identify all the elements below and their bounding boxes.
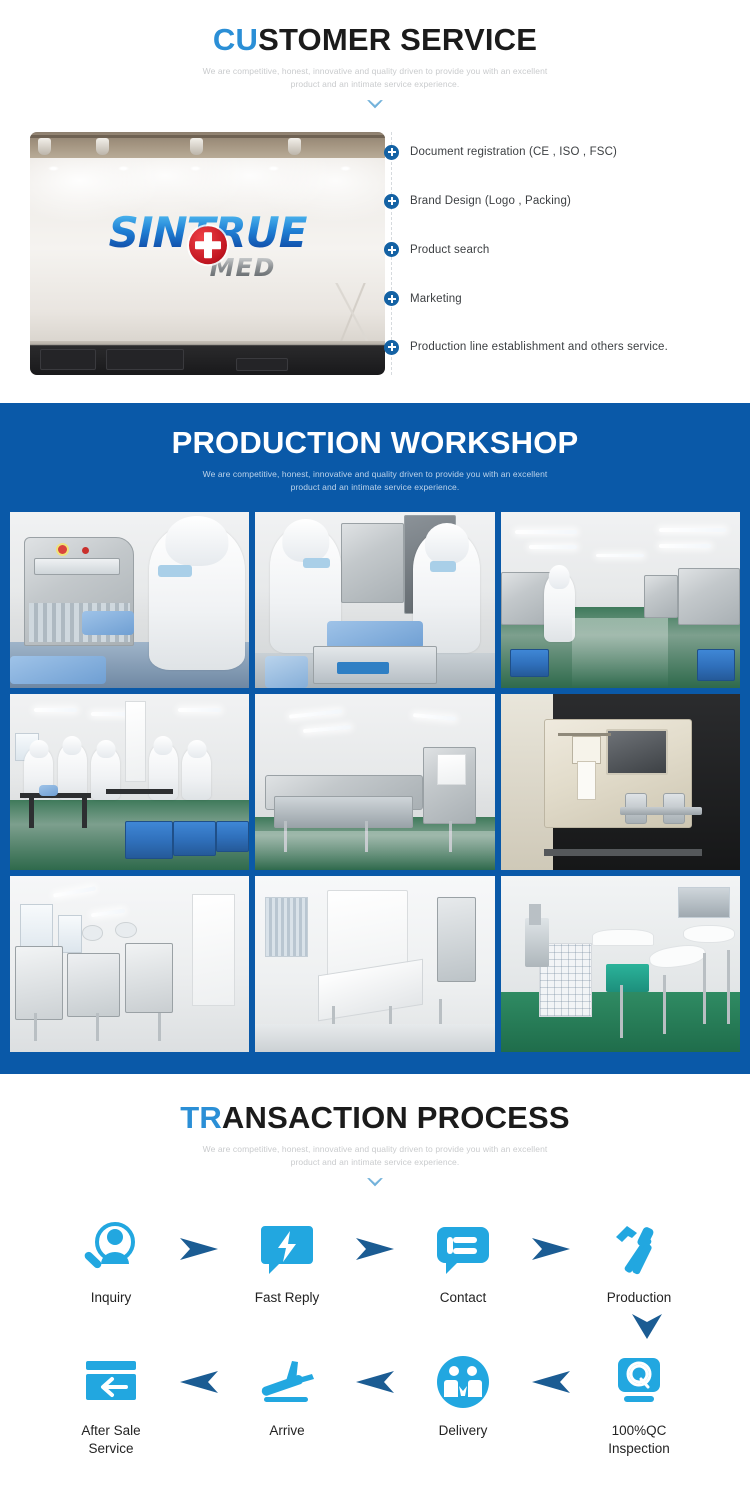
logo-cross-icon bbox=[189, 226, 227, 264]
magnifier-person-icon bbox=[52, 1218, 170, 1280]
workshop-photo-2[interactable] bbox=[255, 512, 494, 688]
chevron-down-icon bbox=[366, 1177, 384, 1188]
list-item[interactable]: Document registration (CE , ISO , FSC) bbox=[416, 145, 720, 160]
list-item[interactable]: Marketing bbox=[416, 291, 720, 306]
service-label: Marketing bbox=[410, 293, 462, 305]
process-row-1: Inquiry Fast Reply bbox=[0, 1218, 750, 1307]
process-label: 100%QC Inspection bbox=[580, 1422, 698, 1458]
arrow-right-icon bbox=[346, 1218, 404, 1280]
ceiling-light bbox=[190, 166, 201, 171]
list-item[interactable]: Brand Design (Logo , Packing) bbox=[416, 194, 720, 209]
workshop-photo-6[interactable] bbox=[501, 694, 740, 870]
desk-panel bbox=[40, 349, 96, 370]
arrow-right-icon bbox=[170, 1218, 228, 1280]
customer-service-body: SINTRUE MED Document registration (CE , … bbox=[0, 132, 750, 375]
section-title: TRANSACTION PROCESS bbox=[0, 1100, 750, 1136]
process-row-2: After Sale Service bbox=[0, 1351, 750, 1458]
section-title-accent: TR bbox=[180, 1100, 222, 1135]
process-step-after-sale-service[interactable]: After Sale Service bbox=[52, 1351, 170, 1458]
speech-bubble-lightning-icon bbox=[228, 1218, 346, 1280]
card-back-arrow-icon bbox=[52, 1351, 170, 1413]
production-workshop-subtitle: We are competitive, honest, innovative a… bbox=[200, 468, 550, 494]
service-list: Document registration (CE , ISO , FSC) B… bbox=[391, 132, 720, 375]
ceiling-light bbox=[118, 166, 129, 171]
chat-bubble-icon bbox=[404, 1218, 522, 1280]
plant-decor bbox=[329, 283, 379, 343]
handshake-people-icon bbox=[404, 1351, 522, 1413]
workshop-photo-9[interactable] bbox=[501, 876, 740, 1052]
transaction-process-subtitle: We are competitive, honest, innovative a… bbox=[200, 1143, 550, 1169]
spotlight-icon bbox=[288, 138, 301, 155]
list-item[interactable]: Production line establishment and others… bbox=[416, 340, 720, 355]
process-step-arrive[interactable]: Arrive bbox=[228, 1351, 346, 1440]
production-workshop-header: PRODUCTION WORKSHOP We are competitive, … bbox=[0, 425, 750, 494]
workshop-photo-3[interactable] bbox=[501, 512, 740, 688]
ceiling-track bbox=[30, 135, 385, 138]
process-label: Arrive bbox=[228, 1422, 346, 1440]
logo-subtext: MED bbox=[148, 255, 338, 280]
monitor-qc-icon bbox=[580, 1351, 698, 1413]
airplane-landing-icon bbox=[228, 1351, 346, 1413]
process-label: Production bbox=[580, 1289, 698, 1307]
ceiling-light bbox=[340, 166, 351, 171]
spotlight-icon bbox=[190, 138, 203, 155]
process-step-production[interactable]: Production bbox=[580, 1218, 698, 1307]
arrow-left-icon bbox=[346, 1351, 404, 1413]
plus-circle-icon bbox=[384, 291, 399, 306]
production-workshop-section: PRODUCTION WORKSHOP We are competitive, … bbox=[0, 403, 750, 1074]
hammer-screwdriver-icon bbox=[580, 1218, 698, 1280]
section-title: PRODUCTION WORKSHOP bbox=[0, 425, 750, 461]
process-label: Contact bbox=[404, 1289, 522, 1307]
reception-wall-photo: SINTRUE MED bbox=[30, 132, 385, 375]
list-item[interactable]: Product search bbox=[416, 242, 720, 257]
workshop-photo-7[interactable] bbox=[10, 876, 249, 1052]
spotlight-icon bbox=[38, 138, 51, 155]
page-title-rest: STOMER SERVICE bbox=[258, 22, 537, 57]
transaction-process-header: TRANSACTION PROCESS We are competitive, … bbox=[0, 1100, 750, 1188]
ceiling-light bbox=[268, 166, 279, 171]
workshop-photo-grid bbox=[0, 512, 750, 1052]
arrow-right-icon bbox=[522, 1218, 580, 1280]
page-title: CUSTOMER SERVICE bbox=[0, 22, 750, 58]
process-step-inquiry[interactable]: Inquiry bbox=[52, 1218, 170, 1307]
process-label: Fast Reply bbox=[228, 1289, 346, 1307]
customer-service-section: CUSTOMER SERVICE We are competitive, hon… bbox=[0, 0, 750, 403]
plus-circle-icon bbox=[384, 194, 399, 209]
page-title-accent: CU bbox=[213, 22, 258, 57]
process-step-contact[interactable]: Contact bbox=[404, 1218, 522, 1307]
process-label: After Sale Service bbox=[52, 1422, 170, 1458]
plus-circle-icon bbox=[384, 340, 399, 355]
arrow-left-icon bbox=[522, 1351, 580, 1413]
arrow-down-icon bbox=[0, 1311, 750, 1341]
process-flow: Inquiry Fast Reply bbox=[0, 1218, 750, 1459]
customer-service-header: CUSTOMER SERVICE We are competitive, hon… bbox=[0, 22, 750, 110]
process-label: Inquiry bbox=[52, 1289, 170, 1307]
service-label: Document registration (CE , ISO , FSC) bbox=[410, 146, 617, 158]
arrow-left-icon bbox=[170, 1351, 228, 1413]
company-logo: SINTRUE MED bbox=[78, 212, 338, 280]
workshop-photo-1[interactable] bbox=[10, 512, 249, 688]
section-title-rest: ANSACTION PROCESS bbox=[222, 1100, 570, 1135]
process-step-qc-inspection[interactable]: 100%QC Inspection bbox=[580, 1351, 698, 1458]
desk-panel bbox=[236, 358, 288, 371]
workshop-photo-8[interactable] bbox=[255, 876, 494, 1052]
workshop-photo-4[interactable] bbox=[10, 694, 249, 870]
process-label: Delivery bbox=[404, 1422, 522, 1440]
chevron-down-icon bbox=[366, 99, 384, 110]
service-label: Production line establishment and others… bbox=[410, 341, 668, 353]
workshop-photo-5[interactable] bbox=[255, 694, 494, 870]
service-label: Product search bbox=[410, 244, 489, 256]
plus-circle-icon bbox=[384, 242, 399, 257]
ceiling-light bbox=[48, 166, 59, 171]
transaction-process-section: TRANSACTION PROCESS We are competitive, … bbox=[0, 1074, 750, 1495]
customer-service-subtitle: We are competitive, honest, innovative a… bbox=[200, 65, 550, 91]
plus-circle-icon bbox=[384, 145, 399, 160]
service-label: Brand Design (Logo , Packing) bbox=[410, 195, 571, 207]
spotlight-icon bbox=[96, 138, 109, 155]
desk-panel bbox=[106, 349, 184, 370]
process-step-delivery[interactable]: Delivery bbox=[404, 1351, 522, 1440]
process-step-fast-reply[interactable]: Fast Reply bbox=[228, 1218, 346, 1307]
